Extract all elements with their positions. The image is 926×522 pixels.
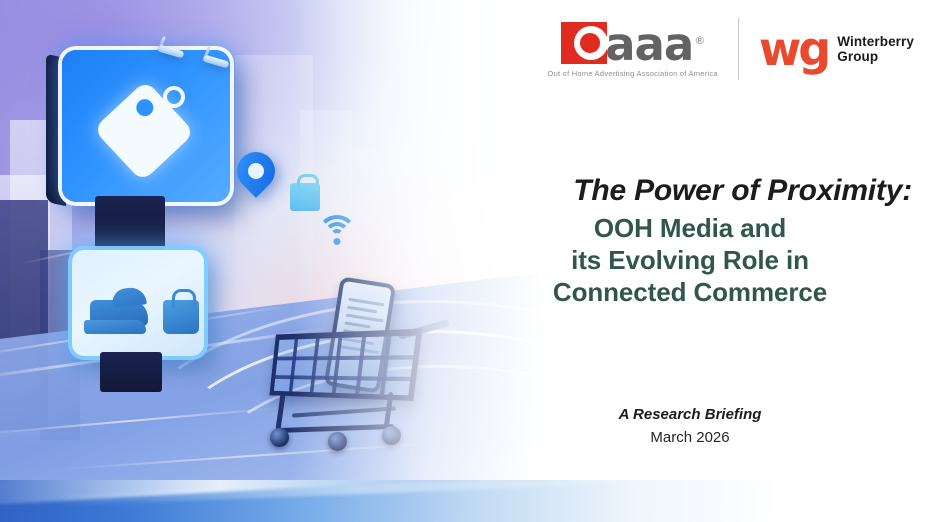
oaaa-tagline: Out of Home Advertising Association of A… (547, 69, 717, 78)
winterberry-name: Winterberry Group (837, 34, 914, 64)
document-type-label: A Research Briefing (492, 404, 888, 426)
footer-block: A Research Briefing March 2026 (492, 404, 912, 449)
oaaa-mark-dot (580, 33, 600, 53)
winterberry-monogram: wg (759, 27, 828, 71)
page-subtitle: OOH Media and its Evolving Role in Conne… (492, 212, 912, 308)
page-subtitle-line: Connected Commerce (492, 276, 888, 308)
oaaa-logo-row: aaa® (561, 21, 704, 65)
publication-date: March 2026 (492, 427, 888, 449)
oaaa-wordmark: aaa® (605, 21, 704, 65)
logo-bar: aaa® Out of Home Advertising Association… (547, 18, 914, 80)
oaaa-logo[interactable]: aaa® Out of Home Advertising Association… (547, 21, 737, 78)
registered-trademark-icon: ® (694, 34, 704, 47)
page-title: The Power of Proximity: (492, 172, 912, 210)
page-subtitle-line: its Evolving Role in (492, 244, 888, 276)
oaaa-logo-mark (561, 22, 607, 64)
title-block: The Power of Proximity: OOH Media and it… (492, 172, 912, 308)
page-subtitle-line: OOH Media and (492, 212, 888, 244)
winterberry-logo[interactable]: wg Winterberry Group (739, 27, 914, 71)
hero-illustration (0, 0, 560, 522)
title-slide: aaa® Out of Home Advertising Association… (0, 0, 926, 522)
bottom-accent-band (0, 480, 926, 522)
winterberry-name-line2: Group (837, 49, 914, 64)
winterberry-name-line1: Winterberry (837, 34, 914, 49)
illustration-fade (0, 0, 560, 522)
oaaa-wordmark-text: aaa (605, 18, 693, 71)
